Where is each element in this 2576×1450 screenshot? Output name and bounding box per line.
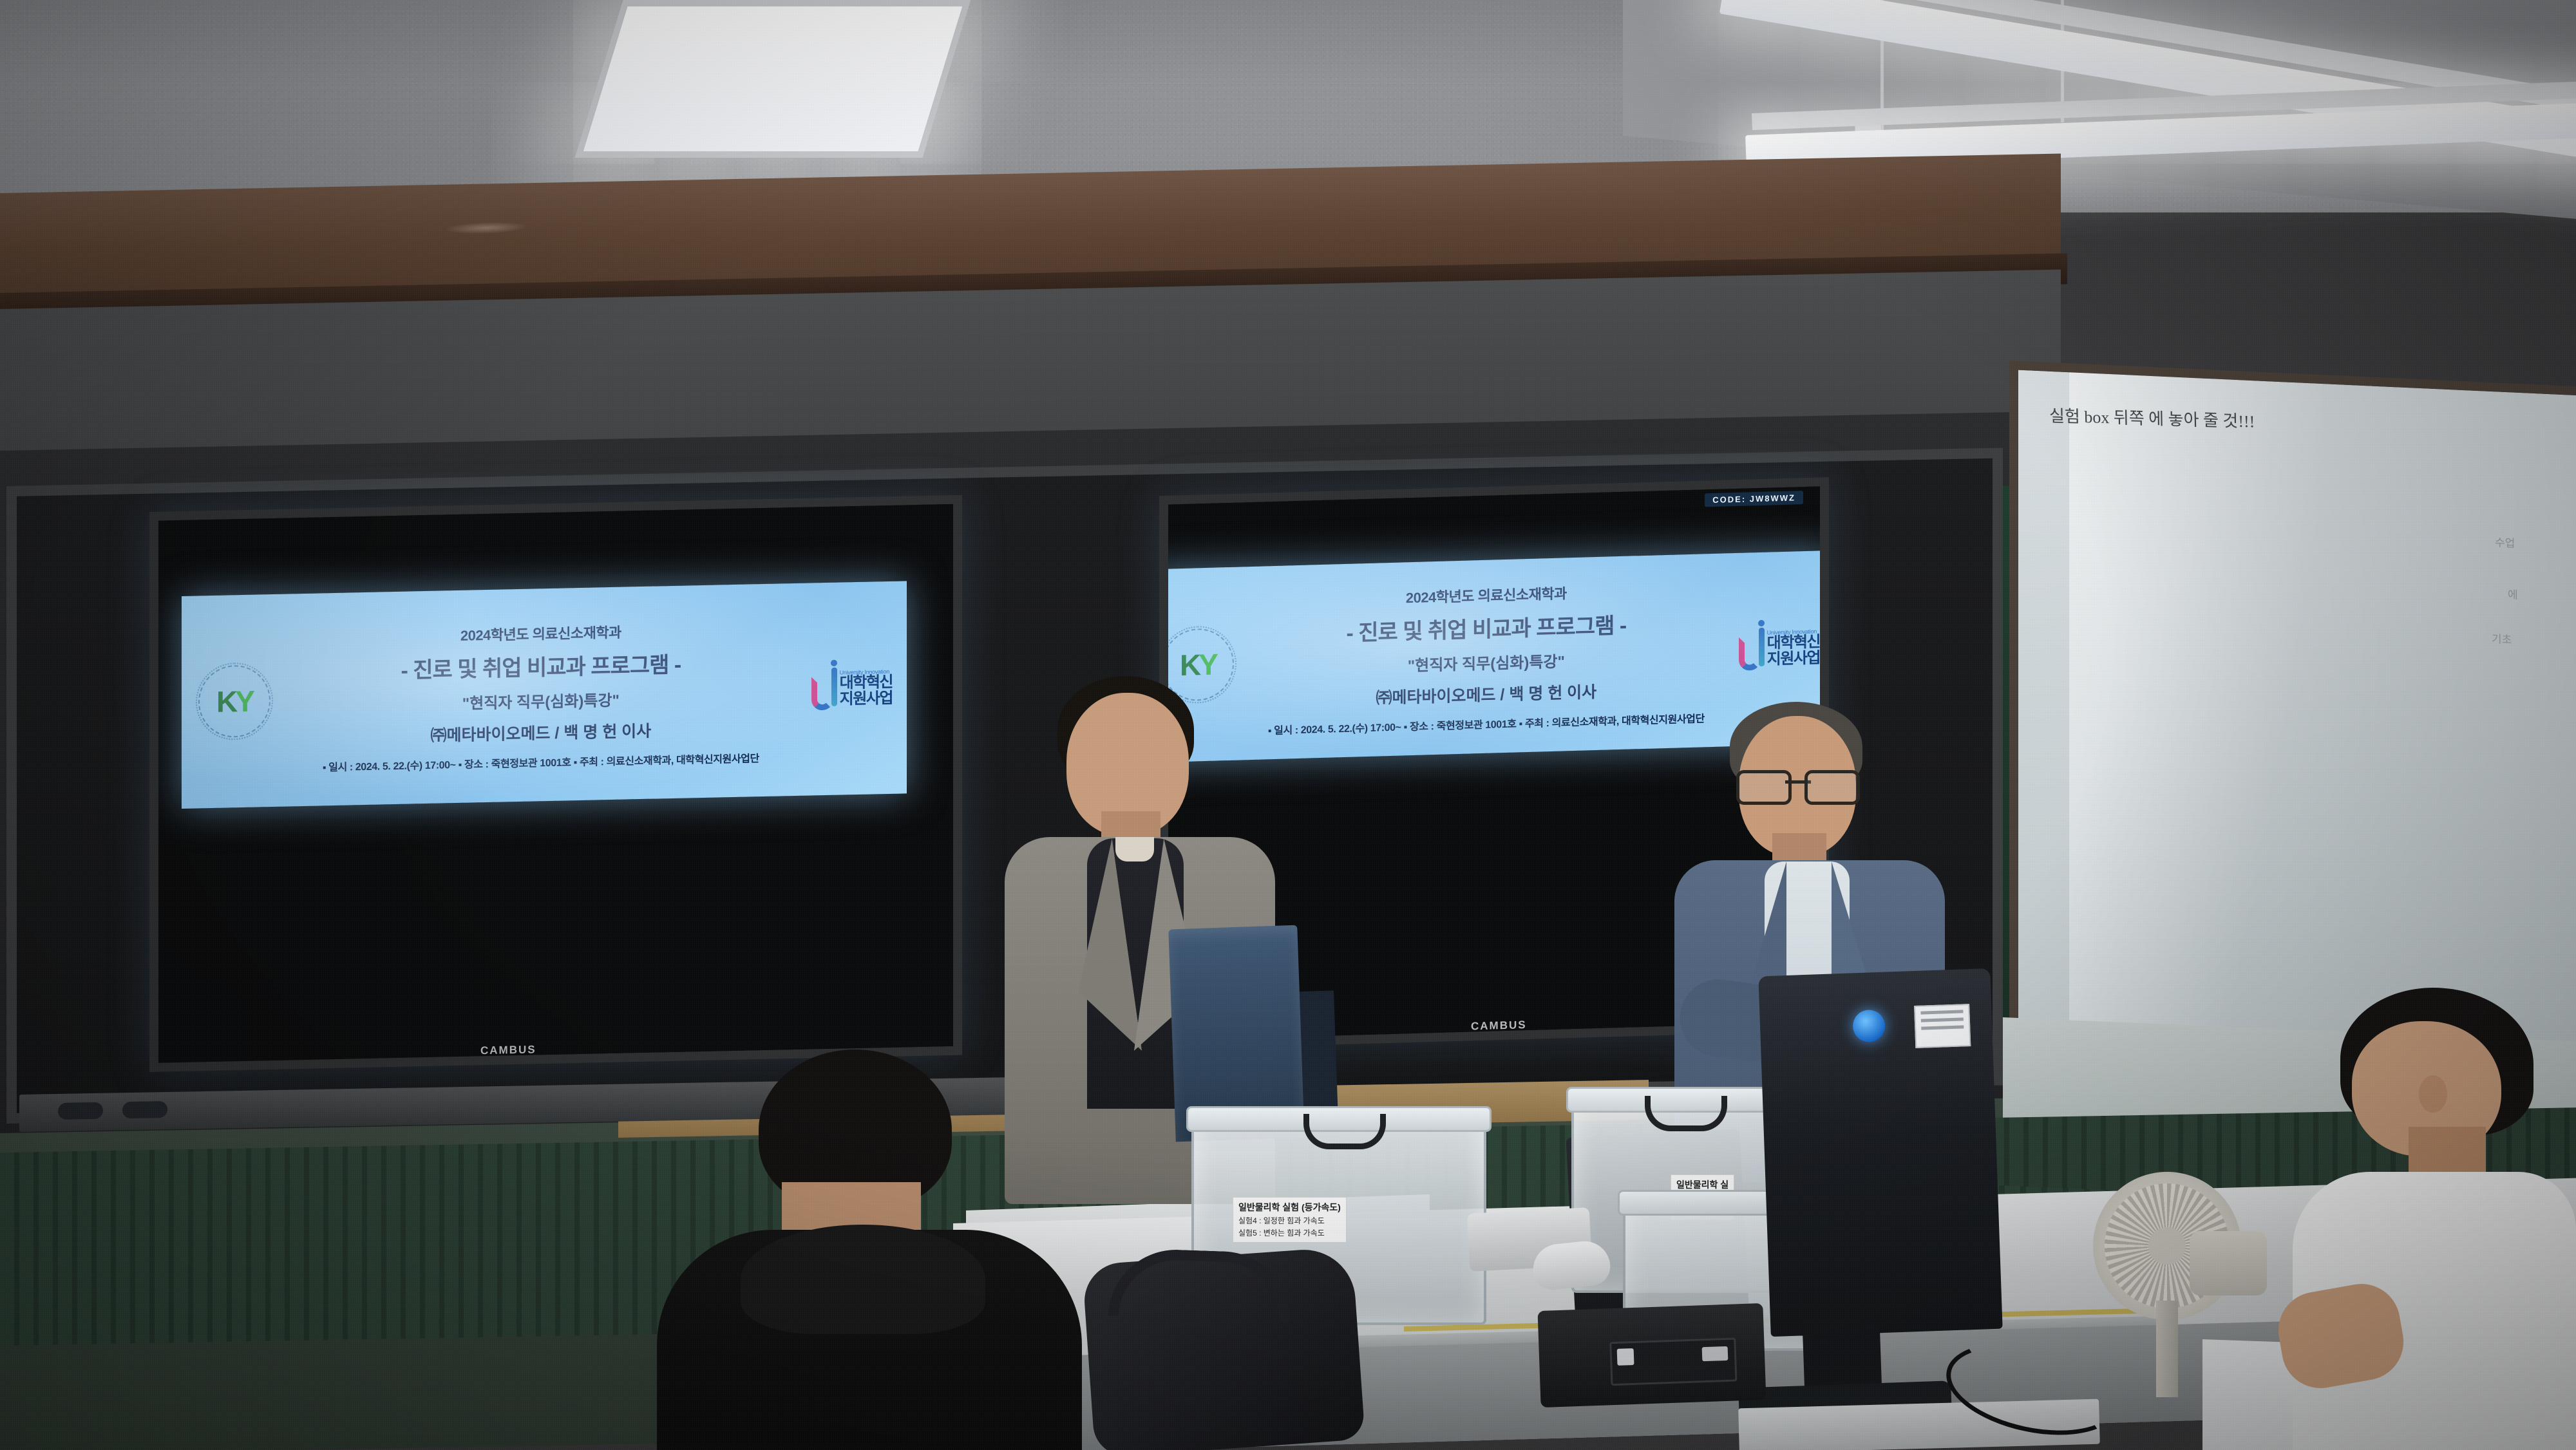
student-foreground [644, 1050, 1095, 1450]
fan-hub [2148, 1227, 2186, 1265]
display-bezel-brand-right: CAMBUS [1471, 1019, 1527, 1033]
logo-uj-line2: 지원사업 [840, 690, 893, 707]
whiteboard-faint-mark: 기초 [2492, 630, 2512, 646]
bin-label-title: 일반물리학 실험 (등가속도) [1238, 1201, 1341, 1214]
hp-monitor-rear[interactable] [1758, 968, 2002, 1337]
logo-uj-line2: 지원사업 [1767, 650, 1820, 668]
display-bezel-brand-left: CAMBUS [480, 1043, 536, 1057]
hood [741, 1225, 985, 1334]
slide-line2: - 진로 및 취업 비교과 프로그램 - [273, 645, 809, 687]
konyang-university-logo-icon: KY [198, 664, 270, 738]
slide-line4: ㈜메타바이오메드 / 백 명 헌 이사 [273, 715, 809, 749]
slide-line5: ▪ 일시 : 2024. 5. 22.(수) 17:00~ ▪ 장소 : 죽현정… [273, 749, 809, 775]
student-right [2293, 985, 2576, 1450]
lecture-hall-photo: KY 2024학년도 의료신소재학과 - 진로 및 취업 비교과 프로그램 - … [0, 0, 2576, 1450]
shirt-collar [1115, 837, 1154, 862]
left-projection-display[interactable]: KY 2024학년도 의료신소재학과 - 진로 및 취업 비교과 프로그램 - … [149, 495, 962, 1072]
slide-line3: "현직자 직무(심화)특강" [273, 684, 809, 717]
university-innovation-logo-icon: University Innovation 대학혁신 지원사업 [1739, 626, 1820, 671]
slide-line4: ㈜메타바이오메드 / 백 명 헌 이사 [1236, 675, 1736, 713]
recessed-ceiling-panel-light-icon [575, 0, 971, 158]
slide-content-left: KY 2024학년도 의료신소재학과 - 진로 및 취업 비교과 프로그램 - … [182, 581, 907, 809]
ear [2419, 1075, 2447, 1113]
bin-label-row: 실험5 : 변하는 힘과 가속도 [1238, 1228, 1341, 1238]
black-equipment-case[interactable] [1537, 1303, 1766, 1408]
pedestal-fan[interactable] [2093, 1172, 2267, 1391]
university-innovation-logo-icon: University Innovation 대학혁신 지원사업 [811, 666, 893, 711]
black-backpack[interactable] [1082, 1247, 1365, 1450]
glasses-icon [1736, 770, 1860, 798]
fan-motor-housing [2190, 1231, 2267, 1295]
hp-logo-icon [1852, 1010, 1886, 1043]
fan-pole [2156, 1301, 2178, 1397]
equipment-control-panel[interactable] [1609, 1337, 1737, 1386]
whiteboard-faint-mark: 에 [2508, 585, 2518, 602]
bin-label-row: 실험4 : 일정한 힘과 가속도 [1238, 1216, 1341, 1226]
slide-line5: ▪ 일시 : 2024. 5. 22.(수) 17:00~ ▪ 장소 : 죽현정… [1236, 709, 1736, 739]
left-screen-surface: KY 2024학년도 의료신소재학과 - 진로 및 취업 비교과 프로그램 - … [158, 504, 953, 1063]
bin-label-left: 일반물리학 실험 (등가속도) 실험4 : 일정한 힘과 가속도 실험5 : 변… [1233, 1197, 1347, 1243]
asset-tag-sticker [1914, 1004, 1971, 1048]
slide-line3: "현직자 직무(심화)특강" [1236, 644, 1736, 681]
whiteboard-faint-mark: 수업 [2495, 533, 2515, 550]
slide-code-badge: CODE: JW8WWZ [1705, 491, 1803, 507]
slide-line1: 2024학년도 의료신소재학과 [273, 617, 809, 649]
slide-line2: - 진로 및 취업 비교과 프로그램 - [1236, 605, 1736, 650]
